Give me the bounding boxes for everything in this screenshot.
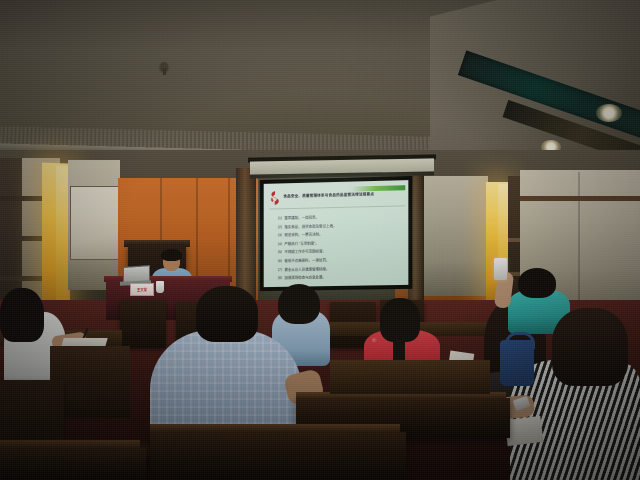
handout-papers-foreground	[505, 416, 544, 446]
slide-bullet: （8）加强现场检查与应急处置。	[276, 272, 403, 283]
conference-room-photo: 食品安全、质量管理体系与食品药品监管法律法规要点 （1）整章建制，一岗双责。 （…	[0, 0, 640, 480]
left-wall-shelf-3	[0, 276, 42, 281]
slide-bullet-list: （1）整章建制，一岗双责。 （2）落实索证，进货查验及登记上墙。 （3）规范采购…	[276, 211, 403, 282]
slide-title: 食品安全、质量管理体系与食品药品监管法律法规要点	[283, 190, 403, 200]
name-placard-text: 王文军	[137, 287, 147, 292]
wall-whiteboard	[70, 186, 120, 260]
chair-back-1	[120, 300, 166, 348]
presenter-hair	[161, 249, 182, 261]
name-placard: 王文军	[130, 283, 154, 296]
right-wall-seam	[578, 172, 580, 320]
slide-divider	[270, 205, 406, 209]
red-institute-logo	[270, 190, 281, 205]
ceiling	[0, 0, 640, 172]
right-beige-panel-inner	[424, 176, 488, 296]
water-cup	[156, 281, 164, 293]
blue-handbag	[500, 340, 534, 386]
bench-left-foreground	[0, 448, 146, 480]
bench-foreground	[150, 432, 406, 480]
projected-slide: 食品安全、质量管理体系与食品药品监管法律法规要点 （1）整章建制，一岗双责。 （…	[264, 180, 409, 287]
table-right-front	[330, 360, 490, 394]
left-wall-shelf-1	[0, 196, 42, 201]
right-wall-trim	[520, 196, 640, 201]
left-wall-dark-column	[0, 158, 22, 308]
attendee-check-hair	[196, 286, 258, 342]
attendee-lb-hair	[278, 284, 320, 324]
attendee-teal-hair	[518, 268, 556, 298]
smartphone-raised[interactable]	[494, 258, 507, 280]
attendee-white-hair	[0, 288, 44, 342]
downlight-1	[596, 104, 622, 122]
smoke-detector-stem	[163, 68, 166, 75]
projection-screen: 食品安全、质量管理体系与食品药品监管法律法规要点 （1）整章建制，一岗双责。 （…	[260, 176, 413, 291]
attendee-striped-hair	[552, 308, 628, 386]
left-wall-shelf-2	[0, 236, 42, 241]
slide-title-text: 食品安全、质量管理体系与食品药品监管法律法规要点	[283, 192, 374, 199]
